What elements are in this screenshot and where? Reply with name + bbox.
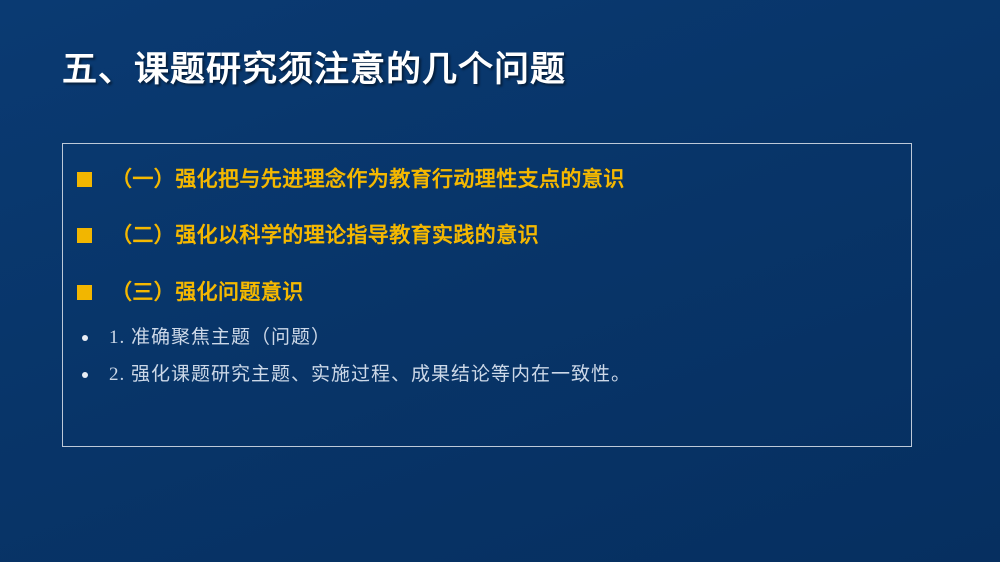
content-box-inner: （一）强化把与先进理念作为教育行动理性支点的意识 （二）强化以科学的理论指导教育…: [63, 144, 911, 446]
square-bullet-icon: [77, 172, 92, 187]
page-title: 五、课题研究须注意的几个问题: [62, 48, 566, 92]
list-item-label: （一）强化把与先进理念作为教育行动理性支点的意识: [111, 166, 625, 193]
list-item-label: 1. 准确聚焦主题（问题）: [109, 324, 331, 352]
dot-bullet-icon: [82, 372, 88, 378]
dot-bullet-icon: [82, 335, 88, 341]
list-item-label: （二）强化以科学的理论指导教育实践的意识: [111, 222, 539, 249]
list-item-label: （三）强化问题意识: [111, 279, 304, 306]
content-box: （一）强化把与先进理念作为教育行动理性支点的意识 （二）强化以科学的理论指导教育…: [62, 143, 912, 447]
list-item[interactable]: （三）强化问题意识: [77, 279, 893, 306]
list-item[interactable]: （一）强化把与先进理念作为教育行动理性支点的意识: [77, 166, 893, 193]
list-item-label: 2. 强化课题研究主题、实施过程、成果结论等内在一致性。: [109, 361, 631, 389]
list-item[interactable]: 1. 准确聚焦主题（问题）: [77, 324, 893, 352]
square-bullet-icon: [77, 228, 92, 243]
list-item[interactable]: 2. 强化课题研究主题、实施过程、成果结论等内在一致性。: [77, 361, 893, 389]
slide-canvas: 五、课题研究须注意的几个问题 （一）强化把与先进理念作为教育行动理性支点的意识 …: [0, 0, 1000, 562]
list-item[interactable]: （二）强化以科学的理论指导教育实践的意识: [77, 222, 893, 249]
square-bullet-icon: [77, 285, 92, 300]
